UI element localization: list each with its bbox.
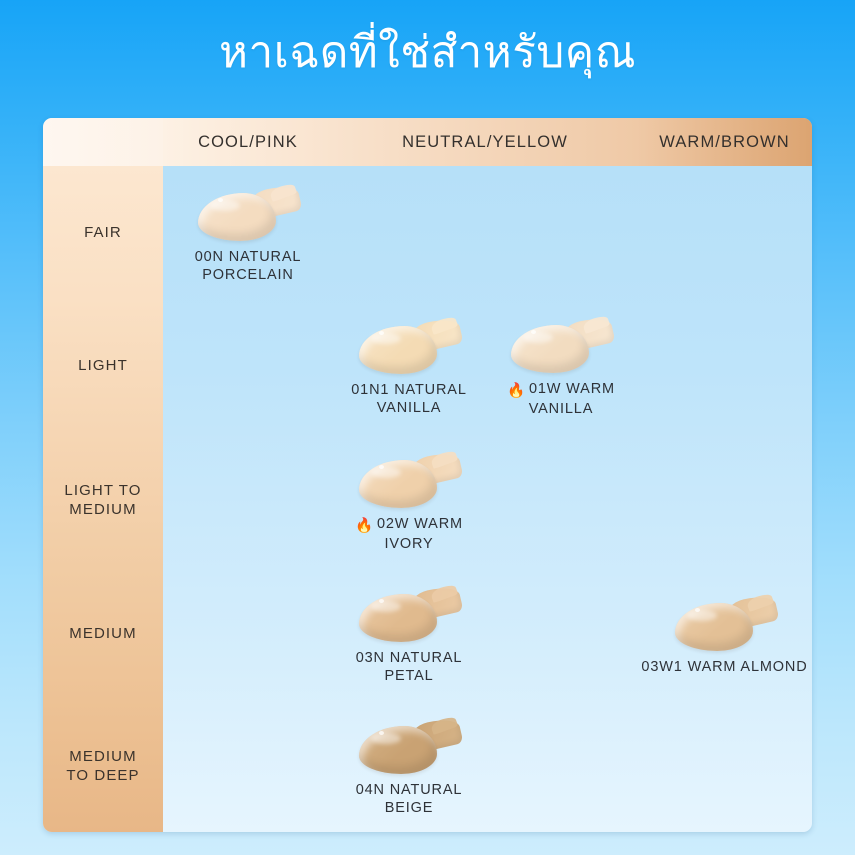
shade-cell-r5c4[interactable] bbox=[637, 700, 812, 832]
foundation-swatch-icon bbox=[357, 586, 461, 644]
foundation-swatch-icon bbox=[357, 718, 461, 776]
swatch-blob bbox=[359, 326, 437, 374]
shade-name-label: 01N1 NATURAL VANILLA bbox=[351, 381, 467, 417]
shade-cell-r5c2[interactable]: 04N NATURAL BEIGE bbox=[333, 700, 485, 832]
swatch-blob bbox=[359, 594, 437, 642]
swatch-blob bbox=[675, 603, 753, 651]
column-header-warm-brown: WARM/BROWN bbox=[637, 118, 812, 166]
table-row: LIGHT 01N1 NATURAL VANILLA 🔥01W WARM VAN… bbox=[43, 298, 812, 433]
shade-cell-r5c3[interactable] bbox=[485, 700, 637, 832]
shade-cell-r3c3[interactable] bbox=[485, 433, 637, 568]
swatch-blob bbox=[511, 325, 589, 373]
shade-cell-r4c2[interactable]: 03N NATURAL PETAL bbox=[333, 568, 485, 700]
shade-cell-r3c2[interactable]: 🔥02W WARM IVORY bbox=[333, 433, 485, 568]
row-header-light: LIGHT bbox=[43, 298, 163, 433]
shade-card-01w-warm-vanilla: 🔥01W WARM VANILLA bbox=[485, 298, 637, 433]
shade-cell-r1c3[interactable] bbox=[485, 166, 637, 298]
shade-card-03n-natural-petal: 03N NATURAL PETAL bbox=[333, 568, 485, 700]
shade-cell-r1c1[interactable]: 00N NATURAL PORCELAIN bbox=[163, 166, 333, 298]
shade-cell-r4c1[interactable] bbox=[163, 568, 333, 700]
swatch-highlight bbox=[531, 330, 536, 334]
shade-name-label: 03N NATURAL PETAL bbox=[356, 649, 463, 685]
shade-name-label: 🔥01W WARM VANILLA bbox=[507, 380, 615, 418]
row-header-medium: MEDIUM bbox=[43, 568, 163, 700]
row-header-light-to-medium: LIGHT TO MEDIUM bbox=[43, 433, 163, 568]
swatch-gloss bbox=[371, 333, 401, 344]
foundation-swatch-icon bbox=[357, 452, 461, 510]
shade-cell-r2c4[interactable] bbox=[637, 298, 812, 433]
shade-card-03w1-warm-almond: 03W1 WARM ALMOND bbox=[637, 568, 812, 700]
shade-cell-r4c3[interactable] bbox=[485, 568, 637, 700]
shade-card-01n1-natural-vanilla: 01N1 NATURAL VANILLA bbox=[333, 298, 485, 433]
shade-card-02w-warm-ivory: 🔥02W WARM IVORY bbox=[333, 433, 485, 568]
shade-name-label: 04N NATURAL BEIGE bbox=[356, 781, 463, 817]
column-header-cool-pink: COOL/PINK bbox=[163, 118, 333, 166]
shade-name-label: 03W1 WARM ALMOND bbox=[641, 658, 807, 676]
flame-icon: 🔥 bbox=[355, 517, 374, 535]
shade-cell-r3c4[interactable] bbox=[637, 433, 812, 568]
shade-card-00n-natural-porcelain: 00N NATURAL PORCELAIN bbox=[163, 166, 333, 298]
foundation-swatch-icon bbox=[673, 595, 777, 653]
table-header-row: COOL/PINK NEUTRAL/YELLOW WARM/BROWN bbox=[43, 118, 812, 166]
table-row: LIGHT TO MEDIUM 🔥02W WARM IVORY bbox=[43, 433, 812, 568]
table-row: MEDIUM 03N NATURAL PETAL 03W1 WARM ALMON… bbox=[43, 568, 812, 700]
shade-cell-r1c2[interactable] bbox=[333, 166, 485, 298]
flame-icon: 🔥 bbox=[507, 382, 526, 400]
swatch-highlight bbox=[695, 608, 700, 612]
shade-cell-r2c2[interactable]: 01N1 NATURAL VANILLA bbox=[333, 298, 485, 433]
shade-cell-r2c1[interactable] bbox=[163, 298, 333, 433]
shade-card-04n-natural-beige: 04N NATURAL BEIGE bbox=[333, 700, 485, 832]
swatch-blob bbox=[359, 460, 437, 508]
table-row: MEDIUM TO DEEP 04N NATURAL BEIGE bbox=[43, 700, 812, 832]
shade-cell-r5c1[interactable] bbox=[163, 700, 333, 832]
column-header-neutral-yellow: NEUTRAL/YELLOW bbox=[333, 118, 637, 166]
shade-finder-table: COOL/PINK NEUTRAL/YELLOW WARM/BROWN FAIR… bbox=[43, 118, 812, 832]
page-title: หาเฉดที่ใช่สำหรับคุณ bbox=[0, 22, 855, 84]
header-corner-cell bbox=[43, 118, 163, 166]
shade-grid: COOL/PINK NEUTRAL/YELLOW WARM/BROWN FAIR… bbox=[43, 118, 812, 832]
swatch-gloss bbox=[371, 467, 401, 478]
shade-cell-r1c4[interactable] bbox=[637, 166, 812, 298]
swatch-blob bbox=[359, 726, 437, 774]
shade-cell-r2c3[interactable]: 🔥01W WARM VANILLA bbox=[485, 298, 637, 433]
table-row: FAIR 00N NATURAL PORCELAIN bbox=[43, 166, 812, 298]
foundation-swatch-icon bbox=[196, 185, 300, 243]
swatch-gloss bbox=[210, 200, 240, 211]
swatch-gloss bbox=[687, 610, 717, 621]
shade-cell-r4c4[interactable]: 03W1 WARM ALMOND bbox=[637, 568, 812, 700]
swatch-highlight bbox=[218, 198, 223, 202]
foundation-swatch-icon bbox=[509, 317, 613, 375]
foundation-swatch-icon bbox=[357, 318, 461, 376]
swatch-blob bbox=[198, 193, 276, 241]
swatch-highlight bbox=[379, 465, 384, 469]
swatch-highlight bbox=[379, 331, 384, 335]
shade-cell-r3c1[interactable] bbox=[163, 433, 333, 568]
shade-name-label: 00N NATURAL PORCELAIN bbox=[195, 248, 302, 284]
row-header-medium-to-deep: MEDIUM TO DEEP bbox=[43, 700, 163, 832]
shade-name-label: 🔥02W WARM IVORY bbox=[355, 515, 463, 553]
row-header-fair: FAIR bbox=[43, 166, 163, 298]
swatch-gloss bbox=[523, 332, 553, 343]
